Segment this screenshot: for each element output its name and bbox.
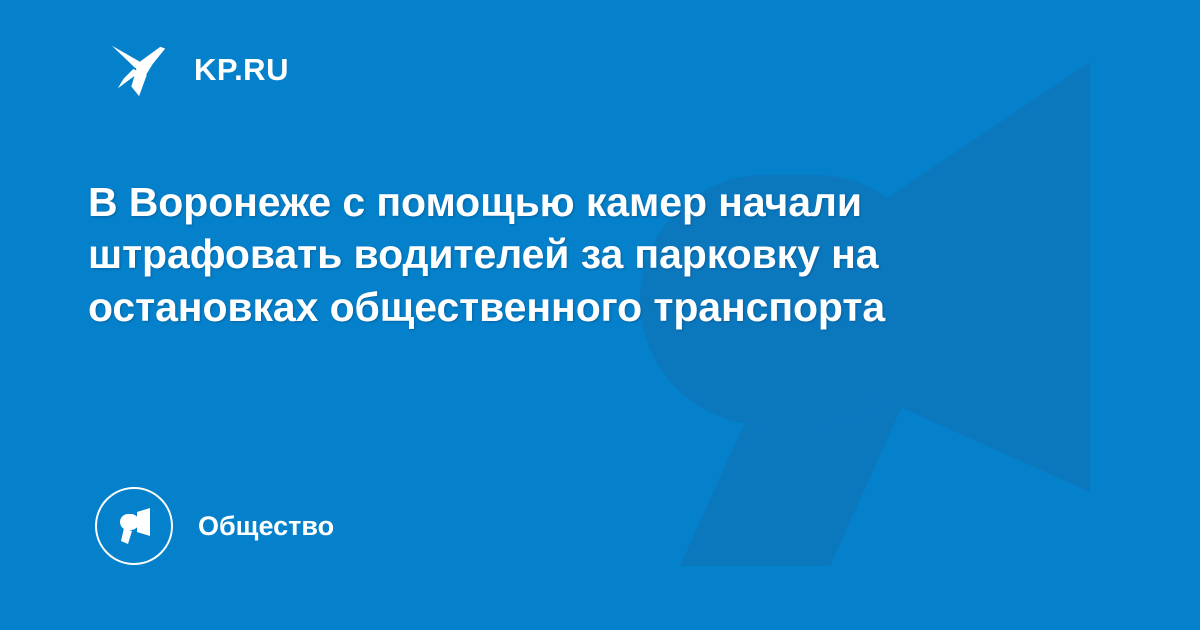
megaphone-icon [113,505,155,547]
category-badge[interactable]: Общество [95,487,334,565]
swallow-bird-icon[interactable] [110,38,172,100]
page-title: В Воронеже с помощью камер начали штрафо… [88,176,1058,333]
brand-name: KP.RU [194,54,289,85]
category-icon-circle [95,487,173,565]
site-header: KP.RU [110,38,289,100]
category-label: Общество [198,513,334,540]
